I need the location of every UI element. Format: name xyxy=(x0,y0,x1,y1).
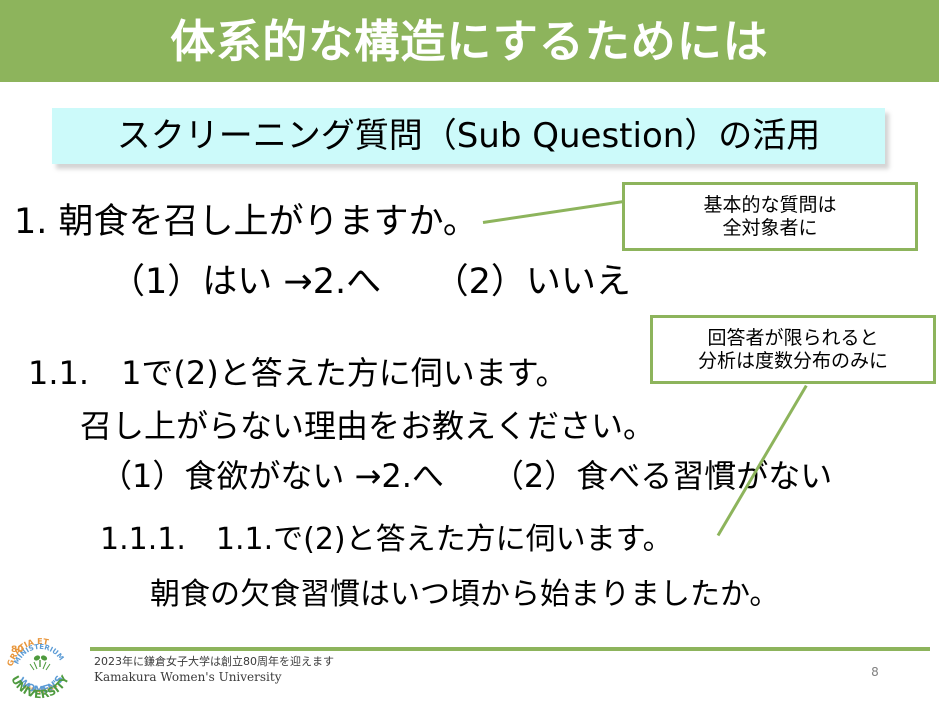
question-1-1-sub: 召し上がらない理由をお教えください。 xyxy=(80,410,655,442)
callout-limited-respondents: 回答者が限られると 分析は度数分布のみに xyxy=(650,315,936,384)
question-1-1-1-main: 1.1.1. 1.1.で(2)と答えた方に伺います。 xyxy=(100,525,673,555)
callout-2-line-2: 分析は度数分布のみに xyxy=(698,350,888,373)
question-1-options: （1）はい →2.へ （2）いいえ xyxy=(110,265,631,300)
leader-line-callout-1 xyxy=(483,200,626,224)
page-title: 体系的な構造にするためには xyxy=(0,0,939,82)
callout-2-line-1: 回答者が限られると xyxy=(707,327,878,350)
svg-text:80: 80 xyxy=(11,645,24,655)
question-1-1-options: （1）食欲がない →2.へ （2）食べる習慣がない xyxy=(100,460,832,492)
footer-divider xyxy=(90,647,930,651)
question-1-1-1-sub: 朝食の欠食習慣はいつ頃から始まりましたか。 xyxy=(150,580,779,610)
university-logo: GRATIA ET MINISTERIUM 80 KAMAKURA WOMEN'… xyxy=(4,634,76,700)
callout-1-line-2: 全対象者に xyxy=(722,217,817,240)
page-number: 8 xyxy=(860,665,890,679)
subtitle-text: スクリーニング質問（Sub Question）の活用 xyxy=(117,119,821,153)
subtitle-box: スクリーニング質問（Sub Question）の活用 xyxy=(52,108,885,164)
question-1-main: 1. 朝食を召し上がりますか。 xyxy=(14,205,478,240)
callout-1-line-1: 基本的な質問は xyxy=(703,194,836,217)
question-1-1-main: 1.1. 1で(2)と答えた方に伺います。 xyxy=(28,357,568,389)
footer-text-japanese: 2023年に鎌倉女子大学は創立80周年を迎えます xyxy=(94,653,334,669)
callout-basic-question: 基本的な質問は 全対象者に xyxy=(622,182,918,251)
footer-text-english: Kamakura Women's University xyxy=(94,670,281,684)
